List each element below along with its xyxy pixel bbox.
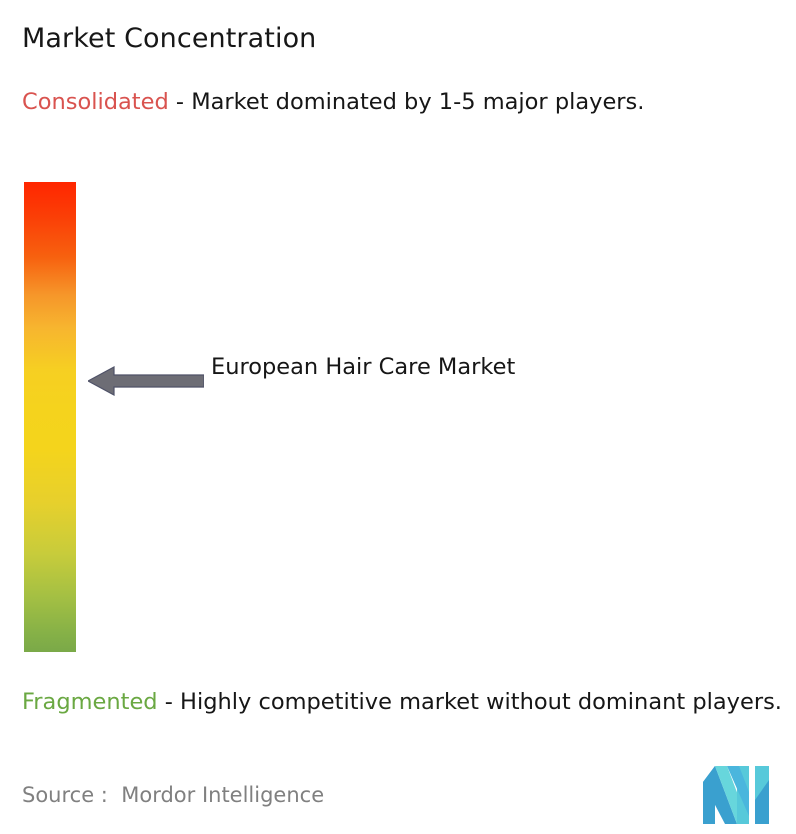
legend-separator-consolidated: - [169,89,191,115]
concentration-gradient-bar [24,182,76,652]
legend-separator-fragmented: - [158,689,180,715]
source-attribution: Source : Mordor Intelligence [22,781,324,809]
arrow-left-icon [88,363,204,399]
market-concentration-figure: Market Concentration Consolidated - Mark… [0,0,796,834]
legend-fragmented: Fragmented - Highly competitive market w… [22,686,782,718]
legend-consolidated: Consolidated - Market dominated by 1-5 m… [22,86,774,119]
legend-term-consolidated: Consolidated [22,89,169,115]
page-title: Market Concentration [22,22,762,56]
mordor-intelligence-logo [703,766,769,824]
legend-description-consolidated: Market dominated by 1-5 major players. [191,89,644,115]
legend-description-fragmented: Highly competitive market without domina… [180,689,782,715]
callout-label-european-hair-care-market: European Hair Care Market [211,349,631,385]
legend-term-fragmented: Fragmented [22,689,158,715]
